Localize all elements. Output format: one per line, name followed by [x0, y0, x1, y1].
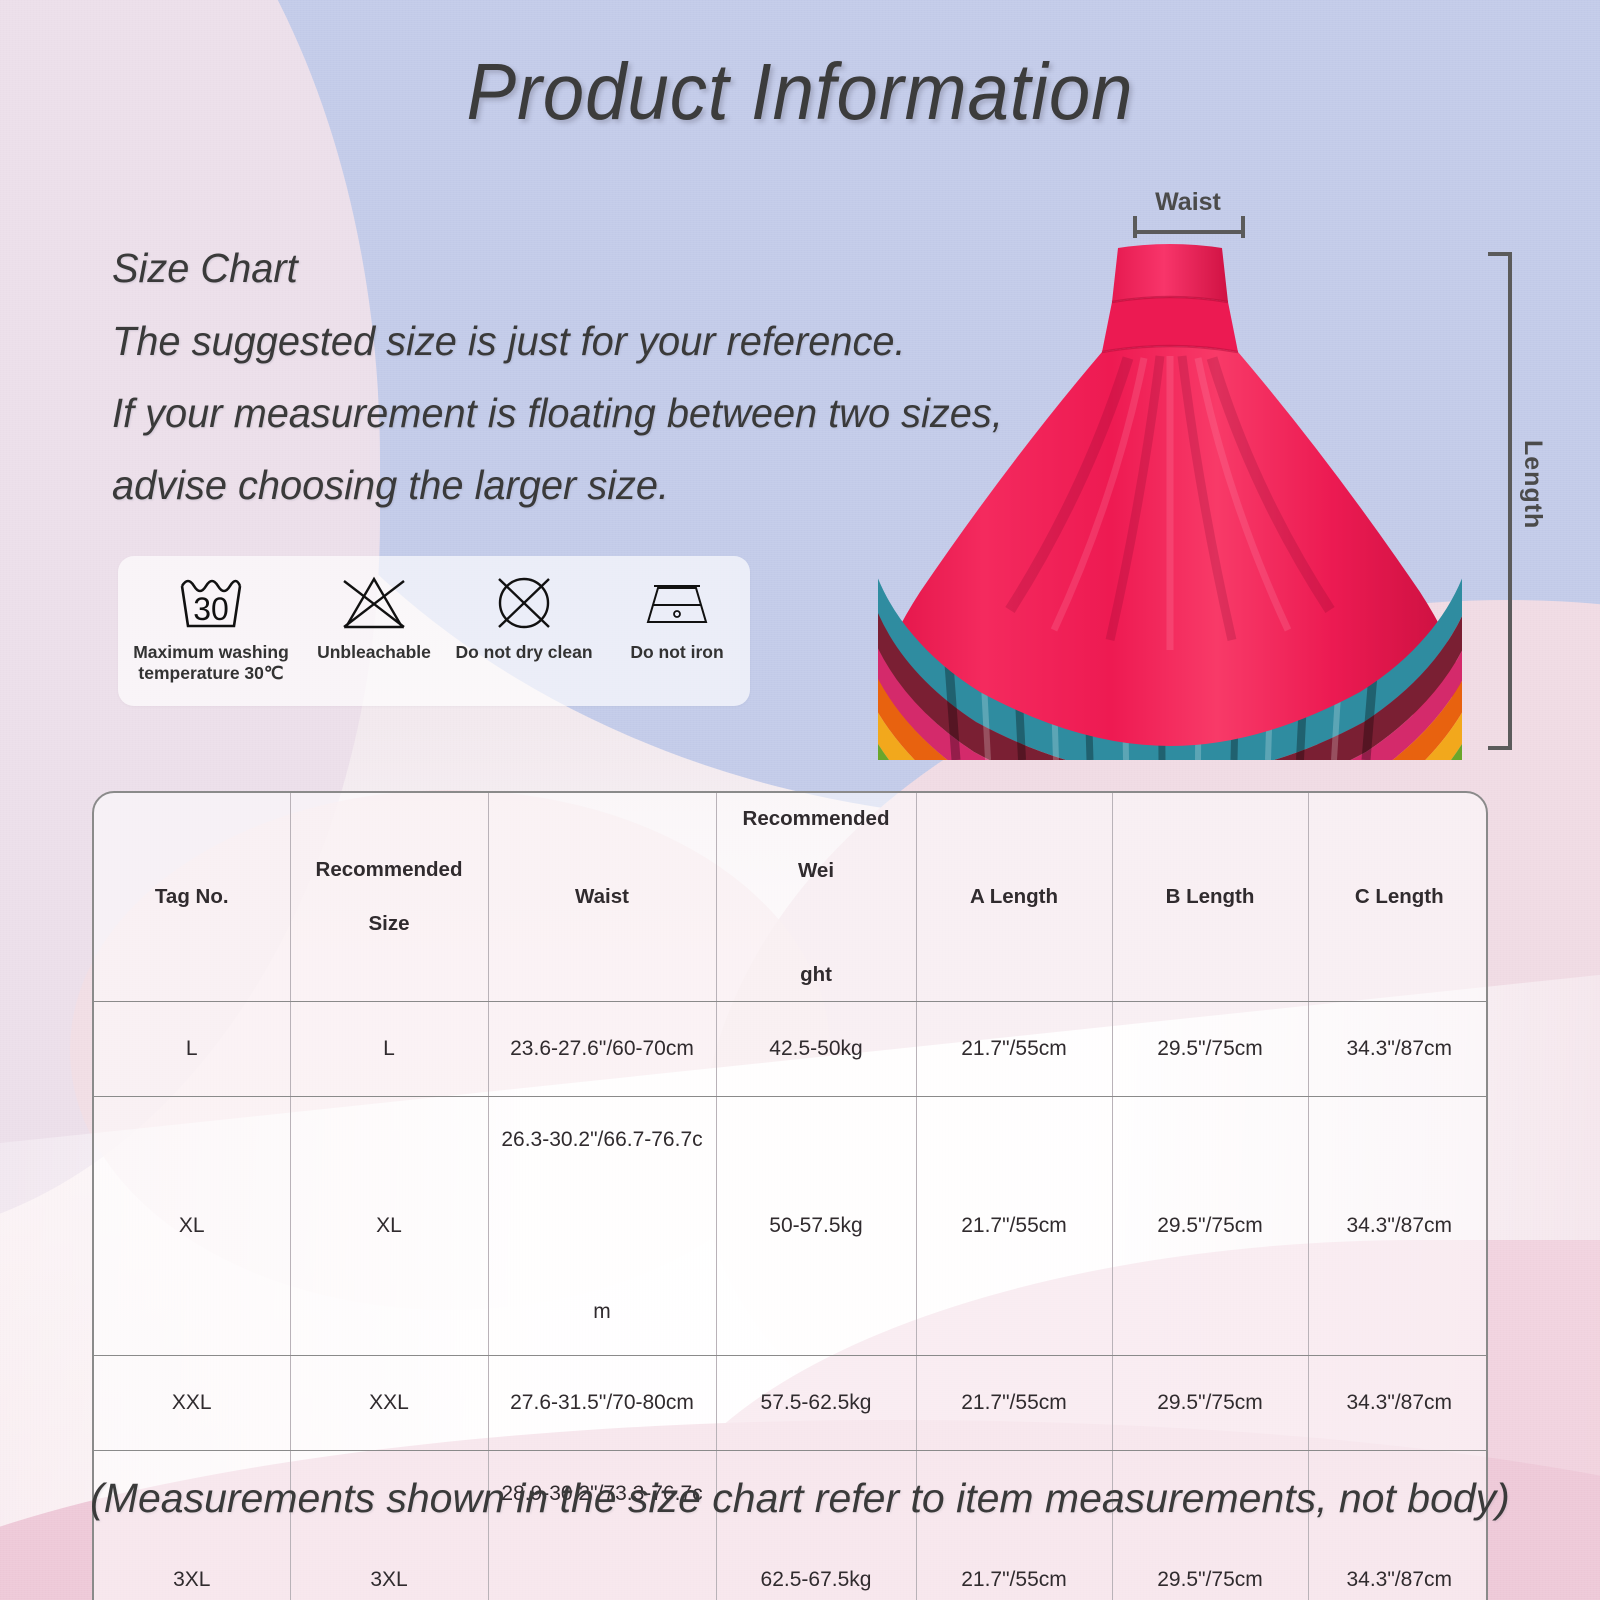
cell-waist: 28.9-30.2"/73.3-76.7c m	[488, 1451, 716, 1600]
table-row: XL XL 26.3-30.2"/66.7-76.7c m 50-57.5kg …	[94, 1097, 1488, 1356]
table-row: 3XL 3XL 28.9-30.2"/73.3-76.7c m 62.5-67.…	[94, 1451, 1488, 1600]
column-header-waist: Waist	[488, 793, 716, 1002]
product-information-infographic: Product Information Size Chart The sugge…	[0, 0, 1600, 1600]
cell-b-length: 29.5"/75cm	[1112, 1451, 1308, 1600]
waist-bracket-right-cap	[1241, 216, 1245, 238]
wash-tub-30-icon: 30	[118, 570, 304, 636]
care-instructions-panel: 30 Maximum washing temperature 30℃ Unble…	[118, 556, 750, 706]
care-item-label: Do not iron	[604, 642, 750, 663]
length-measurement-annotation: Length	[1492, 252, 1572, 750]
cell-recommended-weight: 42.5-50kg	[716, 1002, 916, 1097]
cell-c-length: 34.3"/87cm	[1308, 1097, 1488, 1356]
column-header-recommended-size: Recommended Size	[290, 793, 488, 1002]
care-item-no-dry-clean: Do not dry clean	[444, 556, 604, 663]
table-row: L L 23.6-27.6"/60-70cm 42.5-50kg 21.7"/5…	[94, 1002, 1488, 1097]
length-bracket-bottom-cap	[1488, 746, 1512, 750]
cell-a-length: 21.7"/55cm	[916, 1097, 1112, 1356]
cell-tag-no: XL	[94, 1097, 290, 1356]
cell-waist: 27.6-31.5"/70-80cm	[488, 1356, 716, 1451]
table-row: XXL XXL 27.6-31.5"/70-80cm 57.5-62.5kg 2…	[94, 1356, 1488, 1451]
care-item-label: Do not dry clean	[444, 642, 604, 663]
cell-recommended-size: XXL	[290, 1356, 488, 1451]
cell-tag-no: L	[94, 1002, 290, 1097]
cell-a-length: 21.7"/55cm	[916, 1356, 1112, 1451]
cell-recommended-size: 3XL	[290, 1451, 488, 1600]
cell-recommended-weight: 62.5-67.5kg	[716, 1451, 916, 1600]
waist-label: Waist	[1128, 188, 1248, 217]
care-item-label: Maximum washing temperature 30℃	[118, 642, 304, 684]
no-bleach-icon	[304, 570, 444, 636]
cell-recommended-size: L	[290, 1002, 488, 1097]
cell-recommended-weight: 57.5-62.5kg	[716, 1356, 916, 1451]
column-header-b-length: B Length	[1112, 793, 1308, 1002]
cell-c-length: 34.3"/87cm	[1308, 1356, 1488, 1451]
length-label: Length	[1518, 440, 1547, 529]
no-iron-icon	[604, 570, 750, 636]
svg-text:30: 30	[193, 591, 229, 627]
cell-waist: 26.3-30.2"/66.7-76.7c m	[488, 1097, 716, 1356]
cell-recommended-size: XL	[290, 1097, 488, 1356]
care-item-label: Unbleachable	[304, 642, 444, 663]
waist-bracket-bar	[1133, 230, 1245, 234]
cell-tag-no: XXL	[94, 1356, 290, 1451]
cell-a-length: 21.7"/55cm	[916, 1451, 1112, 1600]
waist-bracket-left-cap	[1133, 216, 1137, 238]
care-item-max-wash-temp: 30 Maximum washing temperature 30℃	[118, 556, 304, 684]
table-header-row: Tag No. Recommended Size Waist Recommend…	[94, 793, 1488, 1002]
care-item-no-iron: Do not iron	[604, 556, 750, 663]
column-header-a-length: A Length	[916, 793, 1112, 1002]
column-header-tag-no: Tag No.	[94, 793, 290, 1002]
no-dry-clean-icon	[444, 570, 604, 636]
column-header-c-length: C Length	[1308, 793, 1488, 1002]
cell-b-length: 29.5"/75cm	[1112, 1356, 1308, 1451]
cell-waist: 23.6-27.6"/60-70cm	[488, 1002, 716, 1097]
cell-c-length: 34.3"/87cm	[1308, 1451, 1488, 1600]
page-title: Product Information	[56, 46, 1544, 138]
column-header-recommended-weight: Recommended Wei ght	[716, 793, 916, 1002]
cell-recommended-weight: 50-57.5kg	[716, 1097, 916, 1356]
length-bracket-bar	[1508, 252, 1512, 750]
cell-b-length: 29.5"/75cm	[1112, 1002, 1308, 1097]
footer-note: (Measurements shown in the size chart re…	[0, 1475, 1600, 1522]
waist-measurement-annotation: Waist	[1128, 190, 1248, 240]
cell-a-length: 21.7"/55cm	[916, 1002, 1112, 1097]
care-item-unbleachable: Unbleachable	[304, 556, 444, 663]
product-photo-skirt	[860, 240, 1480, 760]
cell-tag-no: 3XL	[94, 1451, 290, 1600]
cell-b-length: 29.5"/75cm	[1112, 1097, 1308, 1356]
cell-c-length: 34.3"/87cm	[1308, 1002, 1488, 1097]
